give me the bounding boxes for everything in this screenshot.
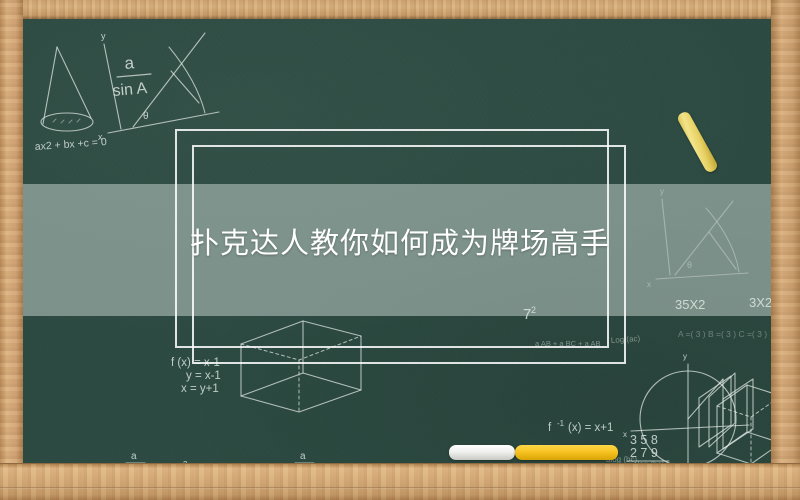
- poster-canvas: a sin A y x θ ax2 + bx +c = 0: [0, 0, 800, 500]
- ledge-groove: [0, 487, 800, 489]
- svg-text:y: y: [660, 187, 664, 196]
- frame-bottom-ledge: [0, 463, 800, 500]
- white-chalk-icon: [449, 445, 515, 460]
- frame-top-rail: [0, 0, 800, 19]
- yellow-chalk-icon: [515, 445, 618, 460]
- page-title: 扑克达人教你如何成为牌场高手: [0, 226, 800, 262]
- svg-text:x: x: [647, 280, 651, 289]
